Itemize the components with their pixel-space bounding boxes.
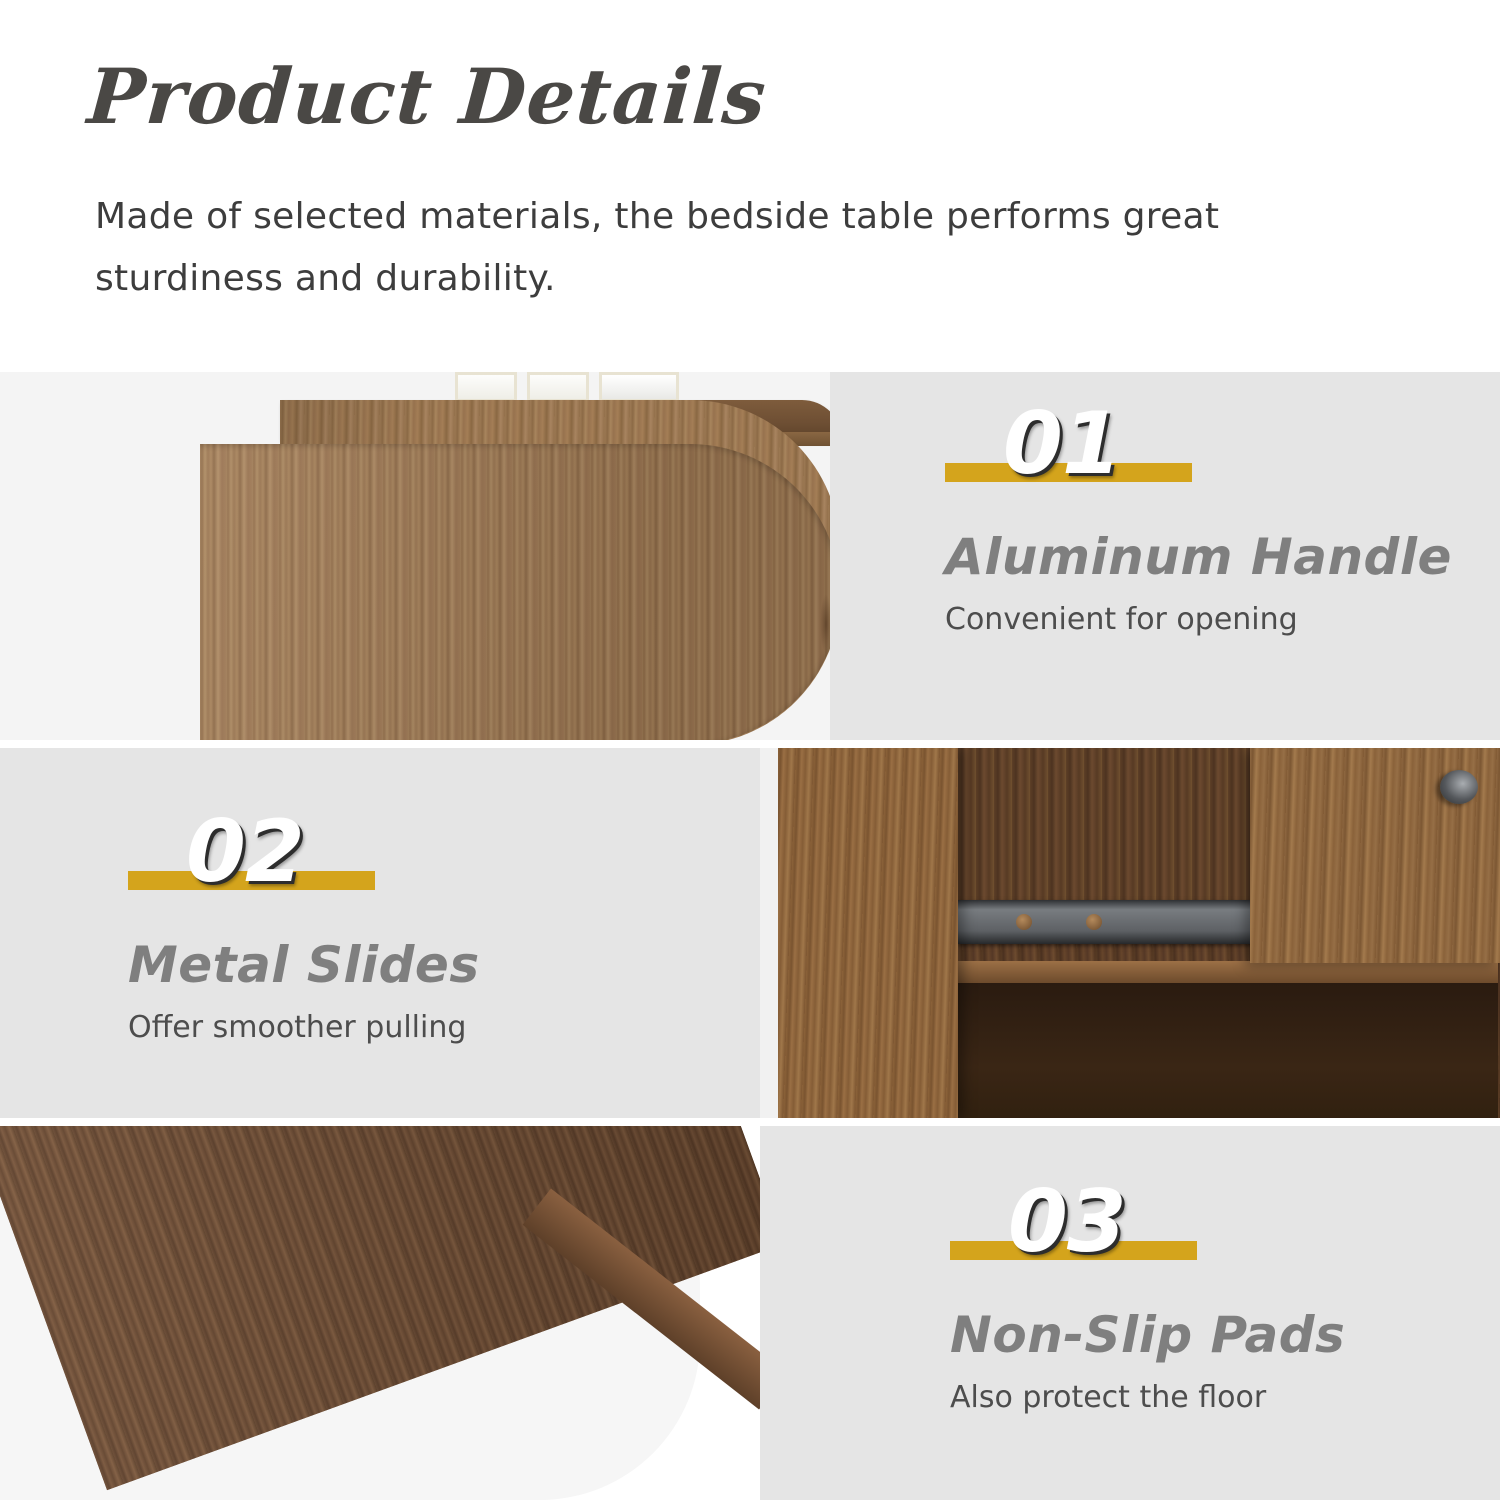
feature-panel-1: 01 Aluminum Handle Convenient for openin… [0, 372, 1500, 740]
rail-screw-hole [1016, 914, 1032, 930]
feature-number-badge-3: 03 [950, 1178, 1126, 1266]
rail-screw-hole [1086, 914, 1102, 930]
feature-subtitle-1: Convenient for opening [945, 600, 1452, 640]
feature-title-3: Non-Slip Pads [950, 1306, 1345, 1364]
cabinet-shelf [958, 961, 1498, 983]
metal-pin-knob [1440, 770, 1478, 804]
wood-grain-knot [820, 594, 830, 654]
drawer-box [958, 748, 1250, 903]
cabinet-cavity [958, 983, 1498, 1118]
image-left-margin [760, 748, 778, 1118]
feature-text-2: 02 Metal Slides Offer smoother pulling [128, 808, 480, 1048]
feature-number-1: 01 [945, 400, 1121, 488]
feature-image-metal-slides [760, 748, 1500, 1118]
feature-panel-3: 03 Non-Slip Pads Also protect the floor [0, 1126, 1500, 1500]
feature-subtitle-2: Offer smoother pulling [128, 1008, 480, 1048]
page-title: Product Details [85, 52, 769, 141]
product-details-infographic: Product Details Made of selected materia… [0, 0, 1500, 1500]
feature-number-2: 02 [128, 808, 304, 896]
feature-panel-2: 02 Metal Slides Offer smoother pulling [0, 748, 1500, 1118]
feature-text-3: 03 Non-Slip Pads Also protect the floor [950, 1178, 1345, 1418]
feature-title-1: Aluminum Handle [945, 528, 1452, 586]
feature-number-badge-1: 01 [945, 400, 1121, 488]
feature-text-1: 01 Aluminum Handle Convenient for openin… [945, 400, 1452, 640]
feature-title-2: Metal Slides [128, 936, 480, 994]
header: Product Details Made of selected materia… [0, 0, 1500, 370]
feature-number-badge-2: 02 [128, 808, 304, 896]
feature-subtitle-3: Also protect the floor [950, 1378, 1345, 1418]
feature-image-aluminum-handle [0, 372, 830, 740]
metal-slide-rail [958, 900, 1258, 944]
drawer-front-panel [200, 444, 830, 740]
feature-image-non-slip-pads [0, 1126, 760, 1500]
cabinet-left-post [778, 748, 958, 1118]
page-subtitle: Made of selected materials, the bedside … [95, 186, 1395, 310]
feature-number-3: 03 [950, 1178, 1126, 1266]
